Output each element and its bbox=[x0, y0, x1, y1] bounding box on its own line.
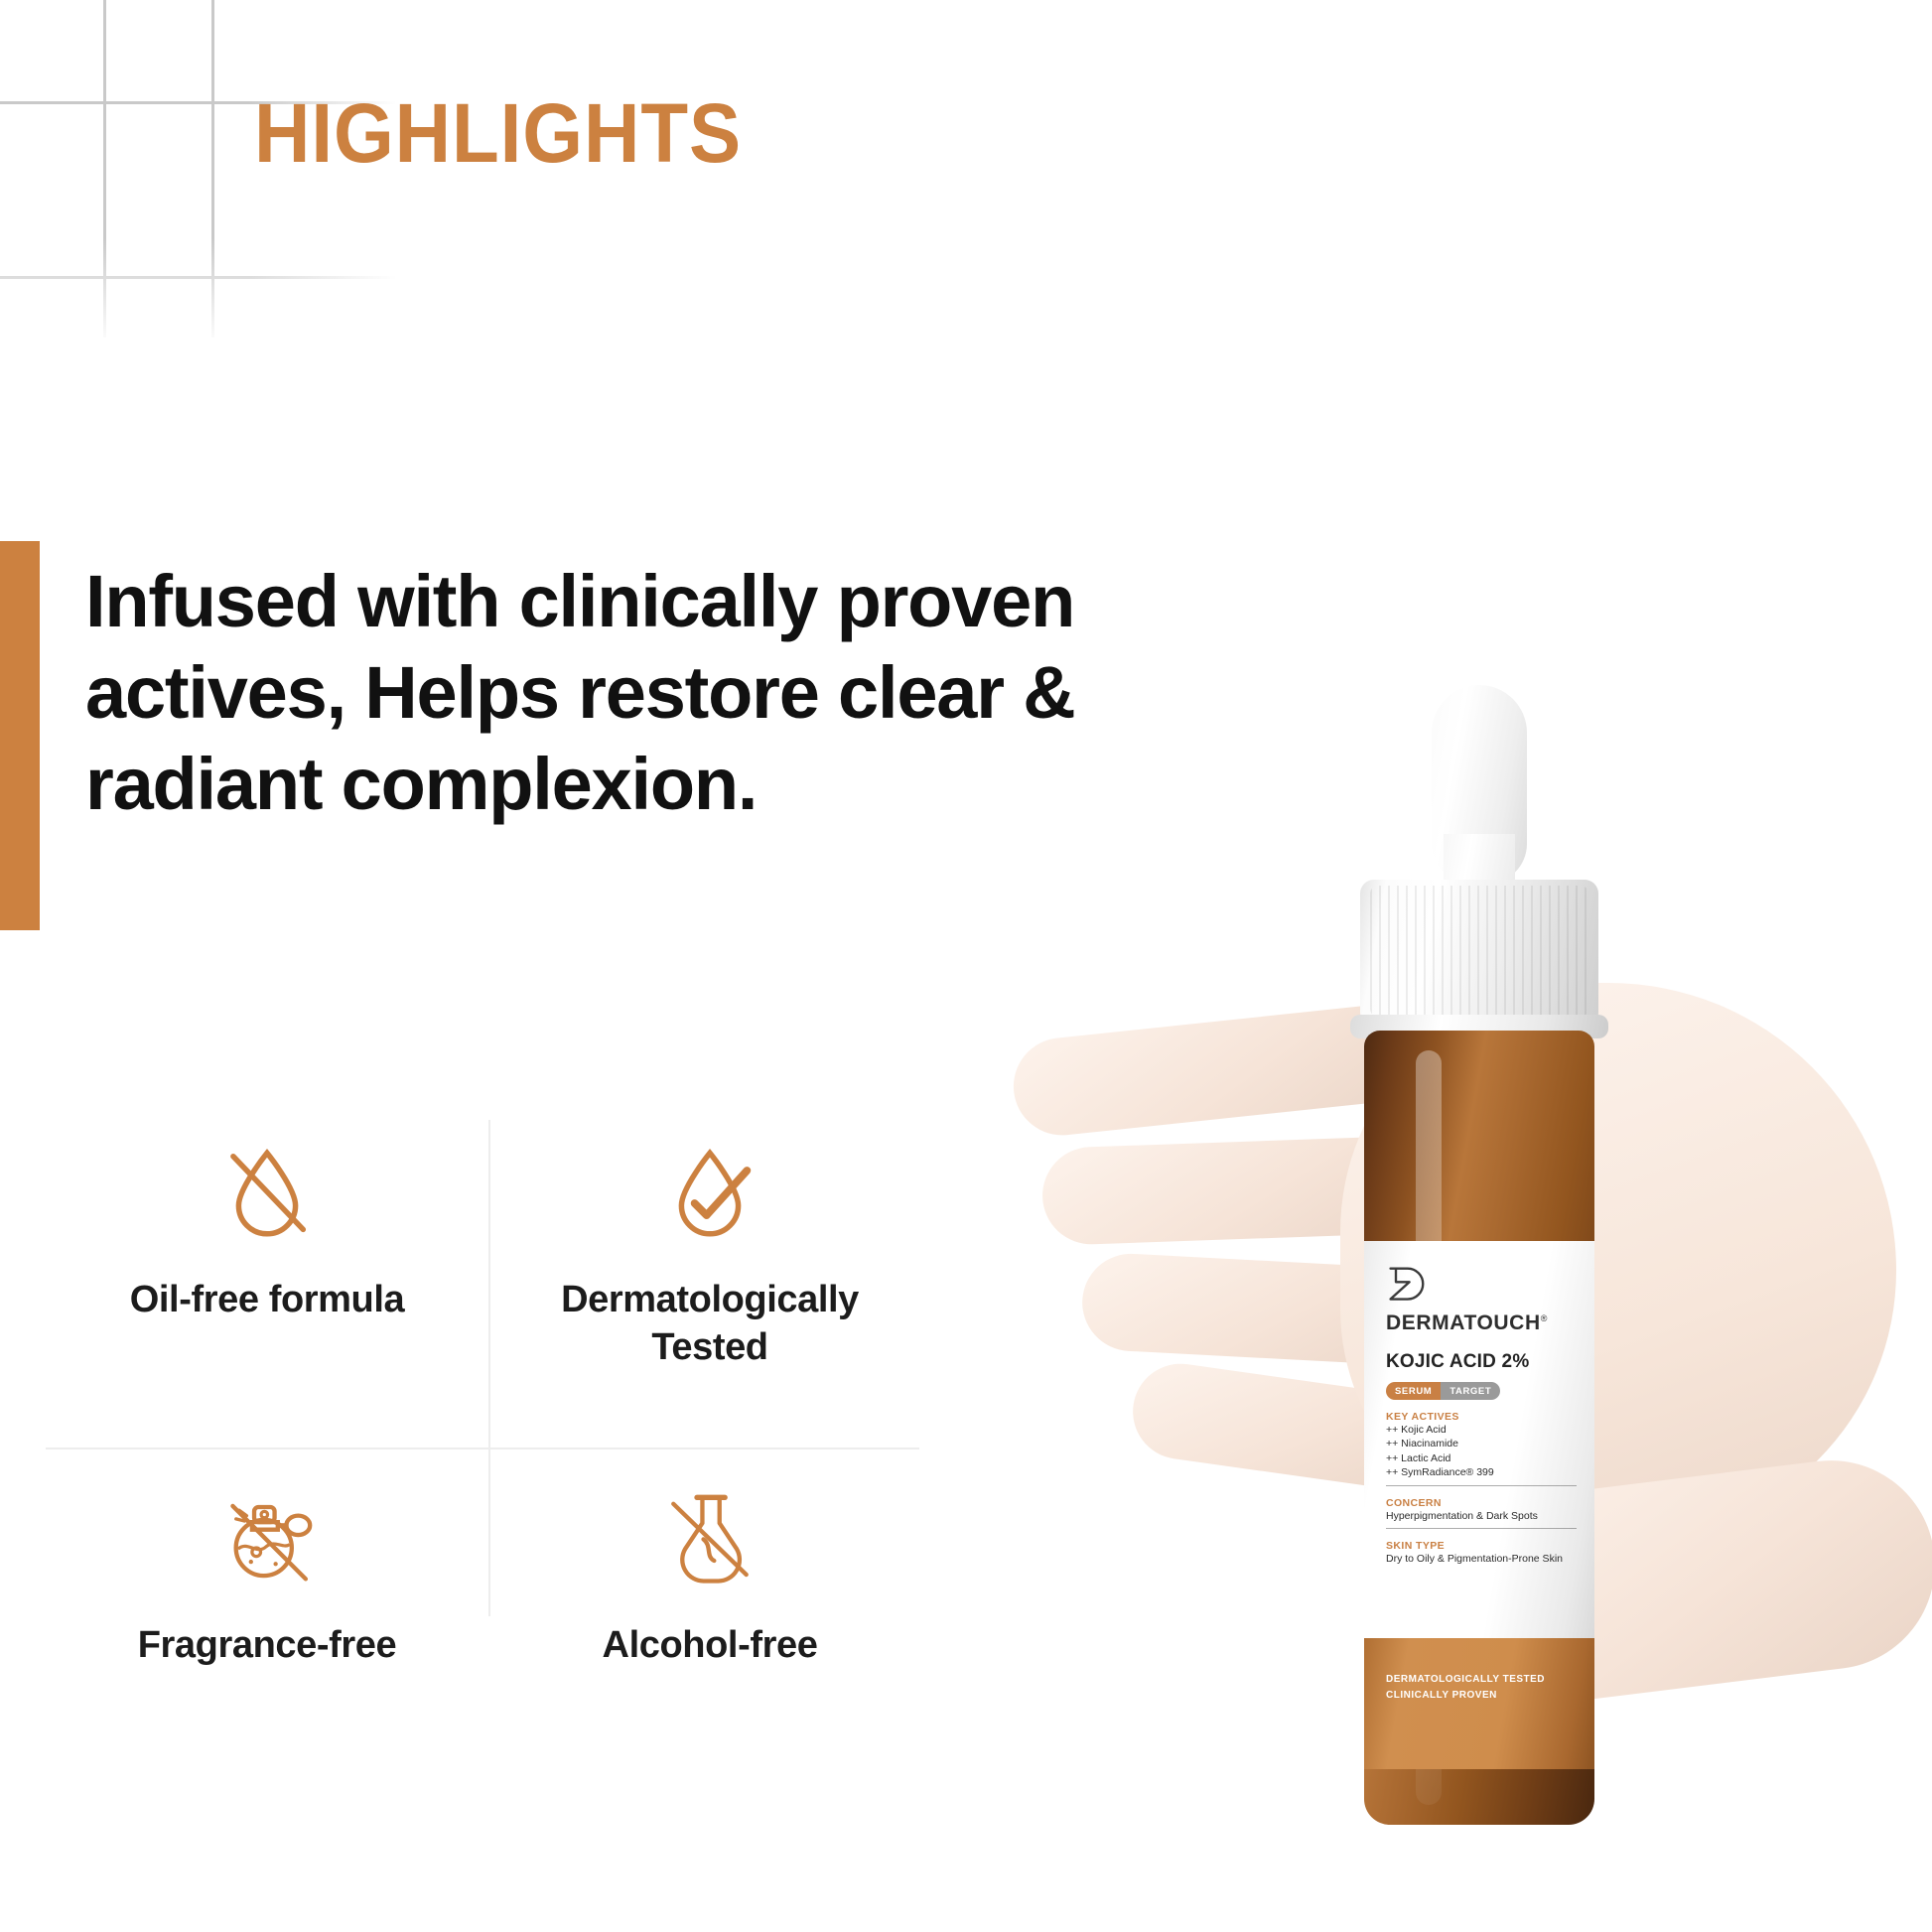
concern-value: Hyperpigmentation & Dark Spots bbox=[1386, 1510, 1577, 1522]
claim-line-1: DERMATOLOGICALLY TESTED bbox=[1386, 1672, 1594, 1688]
product-label: DERMATOUCH® KOJIC ACID 2% SERUM TARGET K… bbox=[1364, 1241, 1594, 1658]
page-title: HIGHLIGHTS bbox=[254, 85, 742, 182]
brand-text: DERMATOUCH bbox=[1386, 1311, 1541, 1334]
deco-horizontal-line-2 bbox=[0, 276, 397, 279]
product-name: KOJIC ACID 2% bbox=[1386, 1351, 1577, 1373]
label-rule bbox=[1386, 1528, 1577, 1529]
key-active-item: ++ Niacinamide bbox=[1386, 1437, 1577, 1450]
product-photo: DERMATOUCH® KOJIC ACID 2% SERUM TARGET K… bbox=[1013, 685, 1932, 1932]
drop-check-icon bbox=[655, 1138, 764, 1247]
dermatouch-logo-icon bbox=[1386, 1265, 1426, 1305]
deco-fade-bottom bbox=[0, 238, 417, 357]
registered-mark: ® bbox=[1541, 1313, 1548, 1323]
brand-name: DERMATOUCH® bbox=[1386, 1311, 1577, 1335]
key-active-item: ++ Lactic Acid bbox=[1386, 1451, 1577, 1465]
perfume-bottle-slash-icon bbox=[213, 1479, 321, 1588]
concern-heading: CONCERN bbox=[1386, 1497, 1577, 1509]
feature-label: Oil-free formula bbox=[130, 1277, 405, 1324]
key-active-item: ++ Kojic Acid bbox=[1386, 1423, 1577, 1437]
key-active-item: ++ SymRadiance® 399 bbox=[1386, 1465, 1577, 1479]
serum-bottle: DERMATOUCH® KOJIC ACID 2% SERUM TARGET K… bbox=[1324, 685, 1632, 1857]
feature-label: Alcohol-free bbox=[603, 1622, 818, 1670]
badge-target: TARGET bbox=[1441, 1382, 1500, 1400]
product-badges: SERUM TARGET bbox=[1386, 1382, 1500, 1400]
deco-vertical-line-2 bbox=[211, 0, 214, 338]
feature-item-oil-free: Oil-free formula bbox=[46, 1120, 488, 1448]
skin-type-value: Dry to Oily & Pigmentation-Prone Skin bbox=[1386, 1553, 1577, 1565]
hero-headline: Infused with clinically proven actives, … bbox=[85, 556, 1078, 829]
skin-type-heading: SKIN TYPE bbox=[1386, 1540, 1577, 1552]
label-orange-band: DERMATOLOGICALLY TESTED CLINICALLY PROVE… bbox=[1364, 1638, 1594, 1769]
claim-line-2: CLINICALLY PROVEN bbox=[1386, 1688, 1594, 1704]
deco-vertical-line-1 bbox=[103, 0, 106, 338]
feature-label: Fragrance-free bbox=[138, 1622, 397, 1670]
oil-drop-slash-icon bbox=[212, 1138, 322, 1247]
feature-item-dermatologically-tested: Dermatologically Tested bbox=[488, 1120, 931, 1448]
feature-item-alcohol-free: Alcohol-free bbox=[488, 1449, 931, 1747]
badge-serum: SERUM bbox=[1386, 1382, 1441, 1400]
accent-bar bbox=[0, 541, 40, 930]
ribbed-cap bbox=[1360, 880, 1598, 1027]
flask-slash-icon bbox=[656, 1479, 763, 1588]
feature-item-fragrance-free: Fragrance-free bbox=[46, 1449, 488, 1747]
feature-label: Dermatologically Tested bbox=[511, 1277, 908, 1372]
features-grid: Oil-free formula Dermatologically Tested bbox=[46, 1120, 919, 1616]
label-rule bbox=[1386, 1485, 1577, 1486]
key-actives-heading: KEY ACTIVES bbox=[1386, 1411, 1577, 1423]
